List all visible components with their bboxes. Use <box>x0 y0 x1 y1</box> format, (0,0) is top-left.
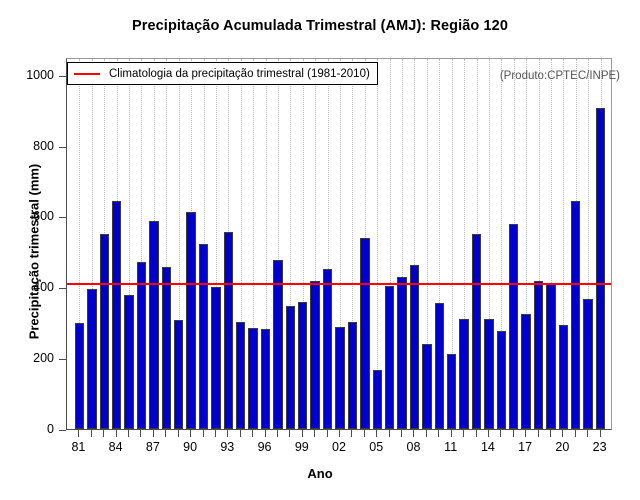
bar <box>385 286 394 429</box>
bar <box>100 234 109 429</box>
bar <box>571 201 580 430</box>
bar <box>484 319 493 429</box>
x-axis-tick <box>401 430 402 437</box>
x-axis-tick <box>128 430 129 437</box>
bar <box>248 328 257 429</box>
bar <box>447 354 456 429</box>
bar <box>435 303 444 429</box>
bar <box>323 269 332 429</box>
x-axis-tick-label: 14 <box>473 440 503 454</box>
x-axis-tick <box>153 430 154 437</box>
bar <box>546 283 555 429</box>
climatology-reference-line <box>67 283 611 285</box>
x-axis-tick-label: 05 <box>361 440 391 454</box>
y-axis-tick <box>59 359 66 360</box>
bar <box>224 232 233 429</box>
y-axis-title: Precipitação trimestral (mm) <box>27 112 42 392</box>
bar <box>211 287 220 429</box>
x-axis-tick <box>116 430 117 437</box>
bar <box>497 331 506 429</box>
y-axis-tick <box>59 147 66 148</box>
bar <box>348 322 357 429</box>
y-axis-tick <box>59 217 66 218</box>
chart-title: Precipitação Acumulada Trimestral (AMJ):… <box>0 18 640 34</box>
y-axis-tick <box>59 430 66 431</box>
x-axis-tick <box>525 430 526 437</box>
y-axis-tick-label: 1000 <box>26 68 54 82</box>
x-axis-tick <box>587 430 588 437</box>
x-axis-tick <box>252 430 253 437</box>
x-axis-tick <box>476 430 477 437</box>
bar <box>534 281 543 429</box>
x-axis-tick <box>451 430 452 437</box>
bar <box>149 221 158 429</box>
bar <box>410 265 419 429</box>
x-axis-tick-label: 93 <box>212 440 242 454</box>
x-axis-tick-label: 02 <box>324 440 354 454</box>
x-axis-tick <box>327 430 328 437</box>
x-axis-tick <box>227 430 228 437</box>
bar <box>298 302 307 429</box>
bar <box>87 289 96 429</box>
x-axis-tick-label: 90 <box>175 440 205 454</box>
bar <box>261 329 270 429</box>
x-axis-tick <box>538 430 539 437</box>
legend-item-label: Climatologia da precipitação trimestral … <box>109 68 370 80</box>
x-axis-tick <box>277 430 278 437</box>
x-axis-tick <box>178 430 179 437</box>
bar <box>472 234 481 429</box>
x-axis-tick <box>302 430 303 437</box>
x-axis-tick <box>426 430 427 437</box>
bar <box>236 322 245 429</box>
bar <box>509 224 518 429</box>
bar <box>174 320 183 429</box>
x-axis-tick <box>203 430 204 437</box>
bar <box>596 108 605 429</box>
x-axis-tick-label: 20 <box>547 440 577 454</box>
x-axis-tick <box>500 430 501 437</box>
y-axis-tick-label: 0 <box>47 422 54 436</box>
bar <box>583 299 592 429</box>
x-axis-tick <box>438 430 439 437</box>
x-axis-tick <box>413 430 414 437</box>
x-axis-tick <box>389 430 390 437</box>
x-axis-tick <box>78 430 79 437</box>
x-axis-tick-label: 11 <box>436 440 466 454</box>
bar <box>459 319 468 429</box>
bar <box>286 306 295 429</box>
x-axis-tick <box>289 430 290 437</box>
x-axis-tick <box>600 430 601 437</box>
producer-credit: (Produto:CPTEC/INPE) <box>500 70 620 82</box>
bar <box>397 277 406 429</box>
bar <box>310 281 319 429</box>
x-axis-tick <box>463 430 464 437</box>
x-axis-tick <box>550 430 551 437</box>
x-axis-tick <box>513 430 514 437</box>
x-axis-tick <box>240 430 241 437</box>
x-axis-tick-label: 23 <box>585 440 615 454</box>
plot-area <box>66 58 612 430</box>
x-axis-tick-label: 96 <box>250 440 280 454</box>
bar <box>422 344 431 429</box>
bar <box>521 314 530 429</box>
x-axis-tick-label: 08 <box>398 440 428 454</box>
bar <box>186 212 195 429</box>
bar <box>559 325 568 429</box>
x-axis-tick-label: 87 <box>138 440 168 454</box>
x-axis-tick <box>140 430 141 437</box>
bar <box>162 267 171 429</box>
x-axis-tick <box>376 430 377 437</box>
chart-figure: Precipitação Acumulada Trimestral (AMJ):… <box>0 0 640 500</box>
x-axis-tick <box>215 430 216 437</box>
x-axis-tick <box>314 430 315 437</box>
x-axis-tick-label: 99 <box>287 440 317 454</box>
x-axis-tick <box>364 430 365 437</box>
bar <box>137 262 146 429</box>
x-axis-tick-label: 81 <box>63 440 93 454</box>
y-axis-tick <box>59 76 66 77</box>
x-axis-tick <box>339 430 340 437</box>
x-axis-tick <box>575 430 576 437</box>
x-axis-tick <box>562 430 563 437</box>
bar <box>75 323 84 429</box>
x-axis-tick <box>488 430 489 437</box>
bar <box>335 327 344 429</box>
legend: Climatologia da precipitação trimestral … <box>67 62 378 85</box>
bar <box>124 295 133 429</box>
x-axis-tick <box>190 430 191 437</box>
x-axis-tick <box>91 430 92 437</box>
x-axis-tick <box>103 430 104 437</box>
x-axis-tick <box>351 430 352 437</box>
x-axis-tick-label: 84 <box>101 440 131 454</box>
bar <box>112 201 121 430</box>
x-axis-title: Ano <box>0 466 640 481</box>
bar <box>373 370 382 429</box>
legend-line-swatch <box>74 73 100 75</box>
bar <box>199 244 208 429</box>
x-axis-tick-label: 17 <box>510 440 540 454</box>
x-axis-tick <box>165 430 166 437</box>
x-axis-tick <box>265 430 266 437</box>
bar <box>360 238 369 429</box>
y-axis-tick <box>59 288 66 289</box>
